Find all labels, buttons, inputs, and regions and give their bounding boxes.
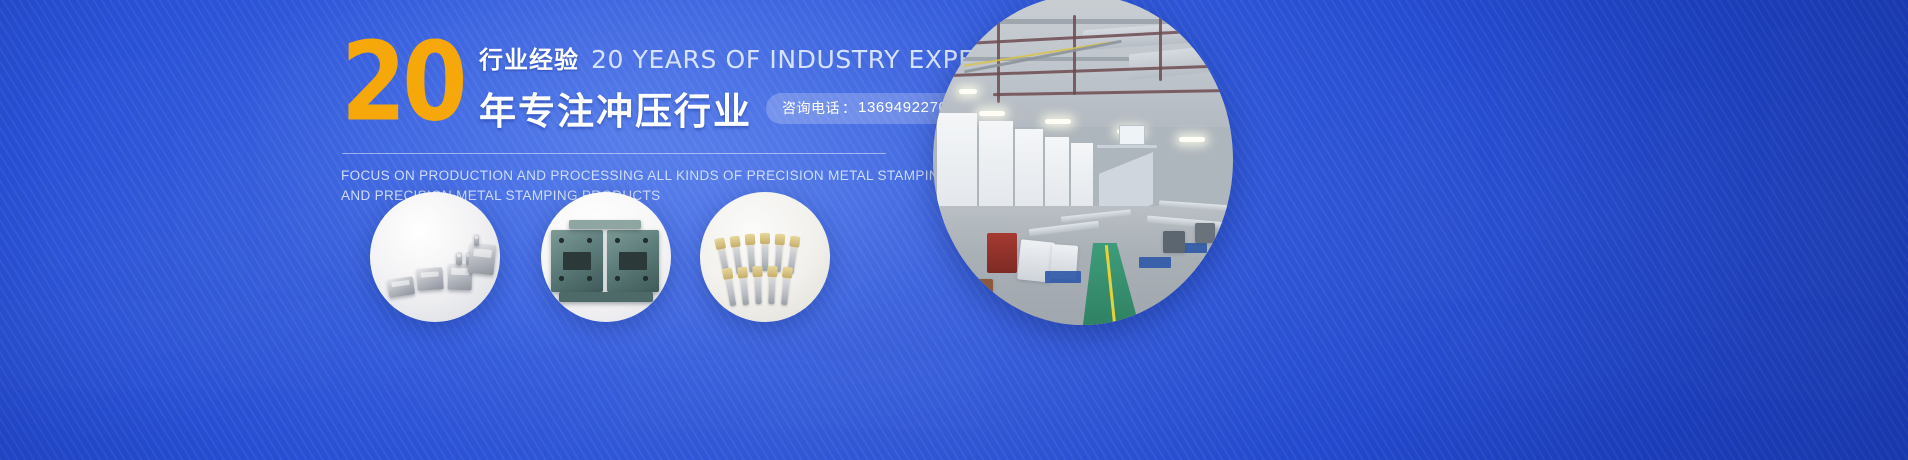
promo-banner: 20 行业经验 20 YEARS OF INDUSTRY EXPERIENCE … bbox=[0, 0, 1908, 460]
factory-photo-circle bbox=[933, 0, 1233, 325]
mold-half-right bbox=[607, 230, 659, 292]
banner-copy: 20 行业经验 20 YEARS OF INDUSTRY EXPERIENCE … bbox=[341, 36, 901, 205]
mold-half-left bbox=[551, 230, 603, 292]
headline: 20 行业经验 20 YEARS OF INDUSTRY EXPERIENCE … bbox=[341, 36, 901, 135]
phone-badge-label: 咨询电话 bbox=[782, 98, 840, 118]
mold-rail bbox=[569, 220, 641, 229]
focus-zh-label: 年专注冲压行业 bbox=[479, 81, 752, 135]
metal-pin bbox=[754, 266, 761, 304]
years-number: 20 bbox=[341, 38, 463, 127]
connector-part bbox=[387, 276, 415, 297]
product-circle-pins bbox=[700, 192, 830, 322]
connector-pin bbox=[456, 252, 462, 265]
product-circle-connectors bbox=[370, 192, 500, 322]
mold-base bbox=[559, 292, 653, 302]
phone-badge-separator: ： bbox=[842, 98, 856, 118]
product-circle-mold bbox=[541, 192, 671, 322]
connector-pin bbox=[474, 234, 479, 246]
connector-part bbox=[468, 243, 497, 276]
metal-pin bbox=[762, 233, 768, 271]
subtitle-line-1: FOCUS ON PRODUCTION AND PROCESSING ALL K… bbox=[341, 166, 901, 186]
divider-rule bbox=[342, 153, 886, 154]
experience-zh-label: 行业经验 bbox=[479, 40, 579, 75]
connector-part bbox=[416, 267, 443, 291]
factory-photo bbox=[933, 0, 1233, 325]
